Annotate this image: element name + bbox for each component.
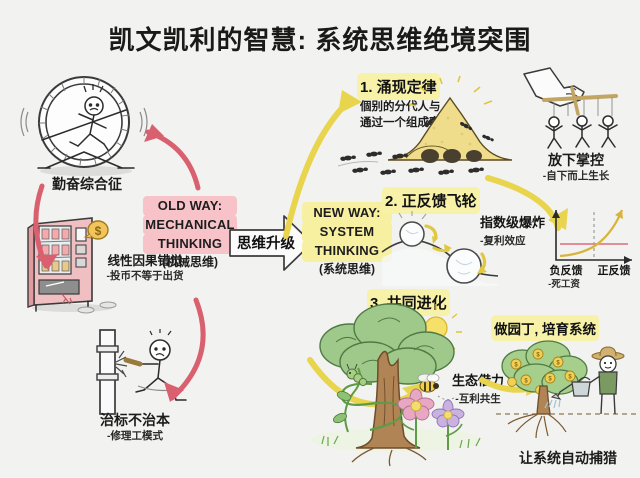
- gardener-banner: 做园丁, 培育系统: [494, 318, 596, 338]
- chart-x-tick-positive: 正反馈: [592, 262, 636, 278]
- old-way-line2: MECHANICAL: [145, 217, 235, 233]
- puppeteer-caption: 放下掌控: [520, 152, 632, 170]
- infographic-canvas: 凯文凯利的智慧: 系统思维绝境突围: [0, 0, 640, 478]
- old-way-line3: THINKING: [145, 236, 235, 252]
- gardener-caption: 让系统自动捕猎: [500, 450, 636, 468]
- old-way-label-zh: (机械思维): [145, 255, 235, 270]
- chart-x-tick-negative-sub: -死工资: [540, 276, 588, 290]
- anthill-ants-icon: [330, 78, 510, 176]
- puppeteer-subcaption: -自下而上生长: [514, 170, 638, 184]
- exponential-chart-icon: [548, 208, 636, 270]
- old-way-label: OLD WAY: MECHANICAL THINKING (机械思维): [145, 198, 235, 269]
- section-2-heading: 2. 正反馈飞轮: [385, 190, 477, 211]
- gardener-money-tree-icon: $$$ $$$: [496, 338, 636, 448]
- puppeteer-hand-icon: [520, 66, 630, 156]
- old-way-line1: OLD WAY:: [145, 198, 235, 214]
- page-title: 凯文凯利的智慧: 系统思维绝境突围: [0, 20, 640, 57]
